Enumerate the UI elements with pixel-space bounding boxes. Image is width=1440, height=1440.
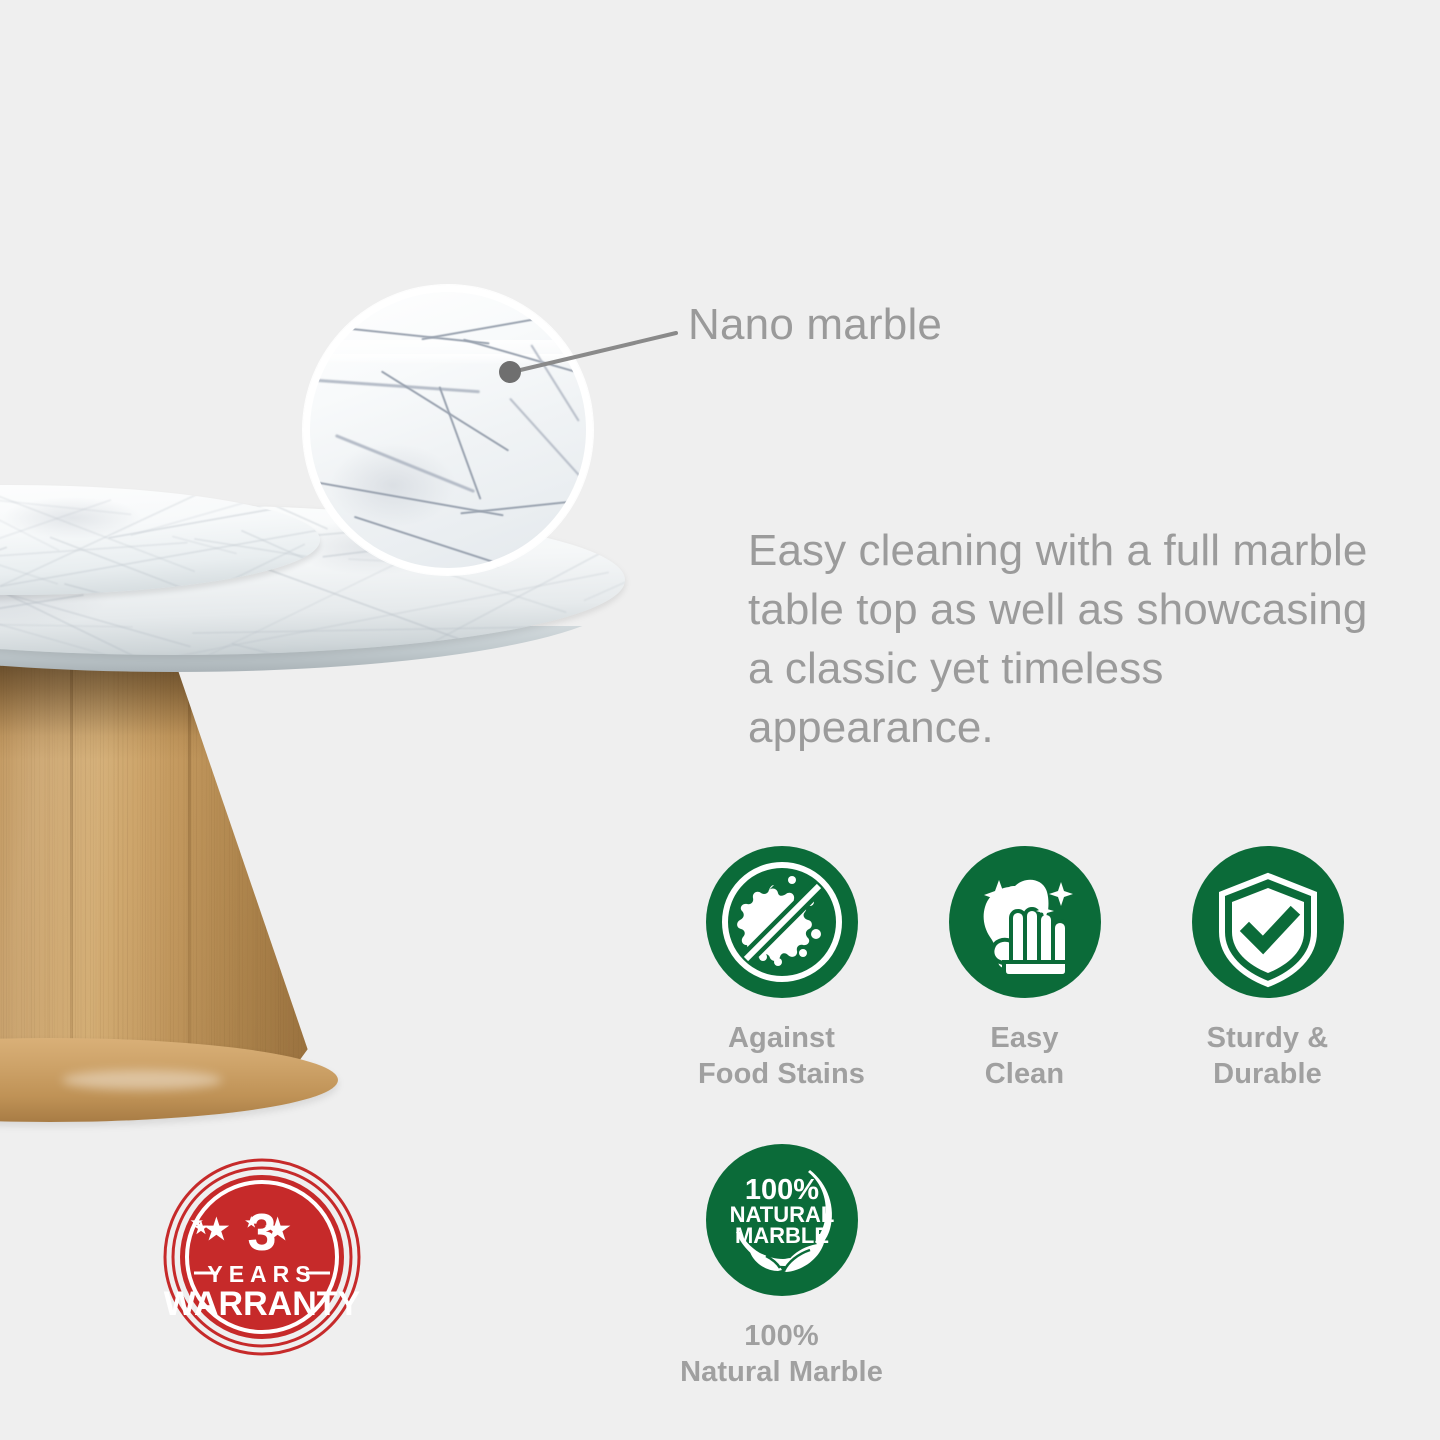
feature-item-sturdy-durable[interactable]: Sturdy & Durable: [1146, 846, 1389, 1092]
base-body: [0, 640, 330, 1080]
warranty-number: 3: [248, 1204, 277, 1262]
easy-clean-hand-icon: [949, 846, 1101, 998]
feature-item-against-food-stains[interactable]: Against Food Stains: [660, 846, 903, 1092]
feature-item-easy-clean[interactable]: Easy Clean: [903, 846, 1146, 1092]
feature-row-bottom: 100% NATURAL MARBLE 100% Natural Marble: [660, 1144, 1390, 1390]
natural-marble-leaf-icon: 100% NATURAL MARBLE: [706, 1144, 858, 1296]
feature-label: Sturdy & Durable: [1207, 1020, 1329, 1092]
no-food-stains-icon: [706, 846, 858, 998]
feature-label: 100% Natural Marble: [680, 1318, 883, 1390]
feature-row-top: Against Food Stains: [660, 846, 1390, 1092]
warranty-word: WARRANTY: [164, 1285, 361, 1323]
description-text: Easy cleaning with a full marble table t…: [748, 521, 1388, 757]
table-wooden-base: [0, 640, 330, 1110]
magnifier-circle-icon: [303, 285, 593, 575]
shield-check-icon: [1192, 846, 1344, 998]
product-photo: [0, 0, 700, 1150]
badge-line3: MARBLE: [734, 1223, 828, 1248]
feature-label: Easy Clean: [985, 1020, 1064, 1092]
feature-label: Against Food Stains: [698, 1020, 865, 1092]
warranty-badge: 3 YEARS WARRANTY: [162, 1157, 362, 1357]
feature-list: Against Food Stains: [660, 846, 1390, 1390]
feature-item-natural-marble[interactable]: 100% NATURAL MARBLE 100% Natural Marble: [660, 1144, 903, 1390]
warranty-years: YEARS: [207, 1261, 316, 1287]
infographic-canvas: Nano marble Easy cleaning with a full ma…: [0, 0, 1440, 1440]
callout-label: Nano marble: [688, 300, 942, 350]
foot-highlight: [62, 1070, 222, 1090]
